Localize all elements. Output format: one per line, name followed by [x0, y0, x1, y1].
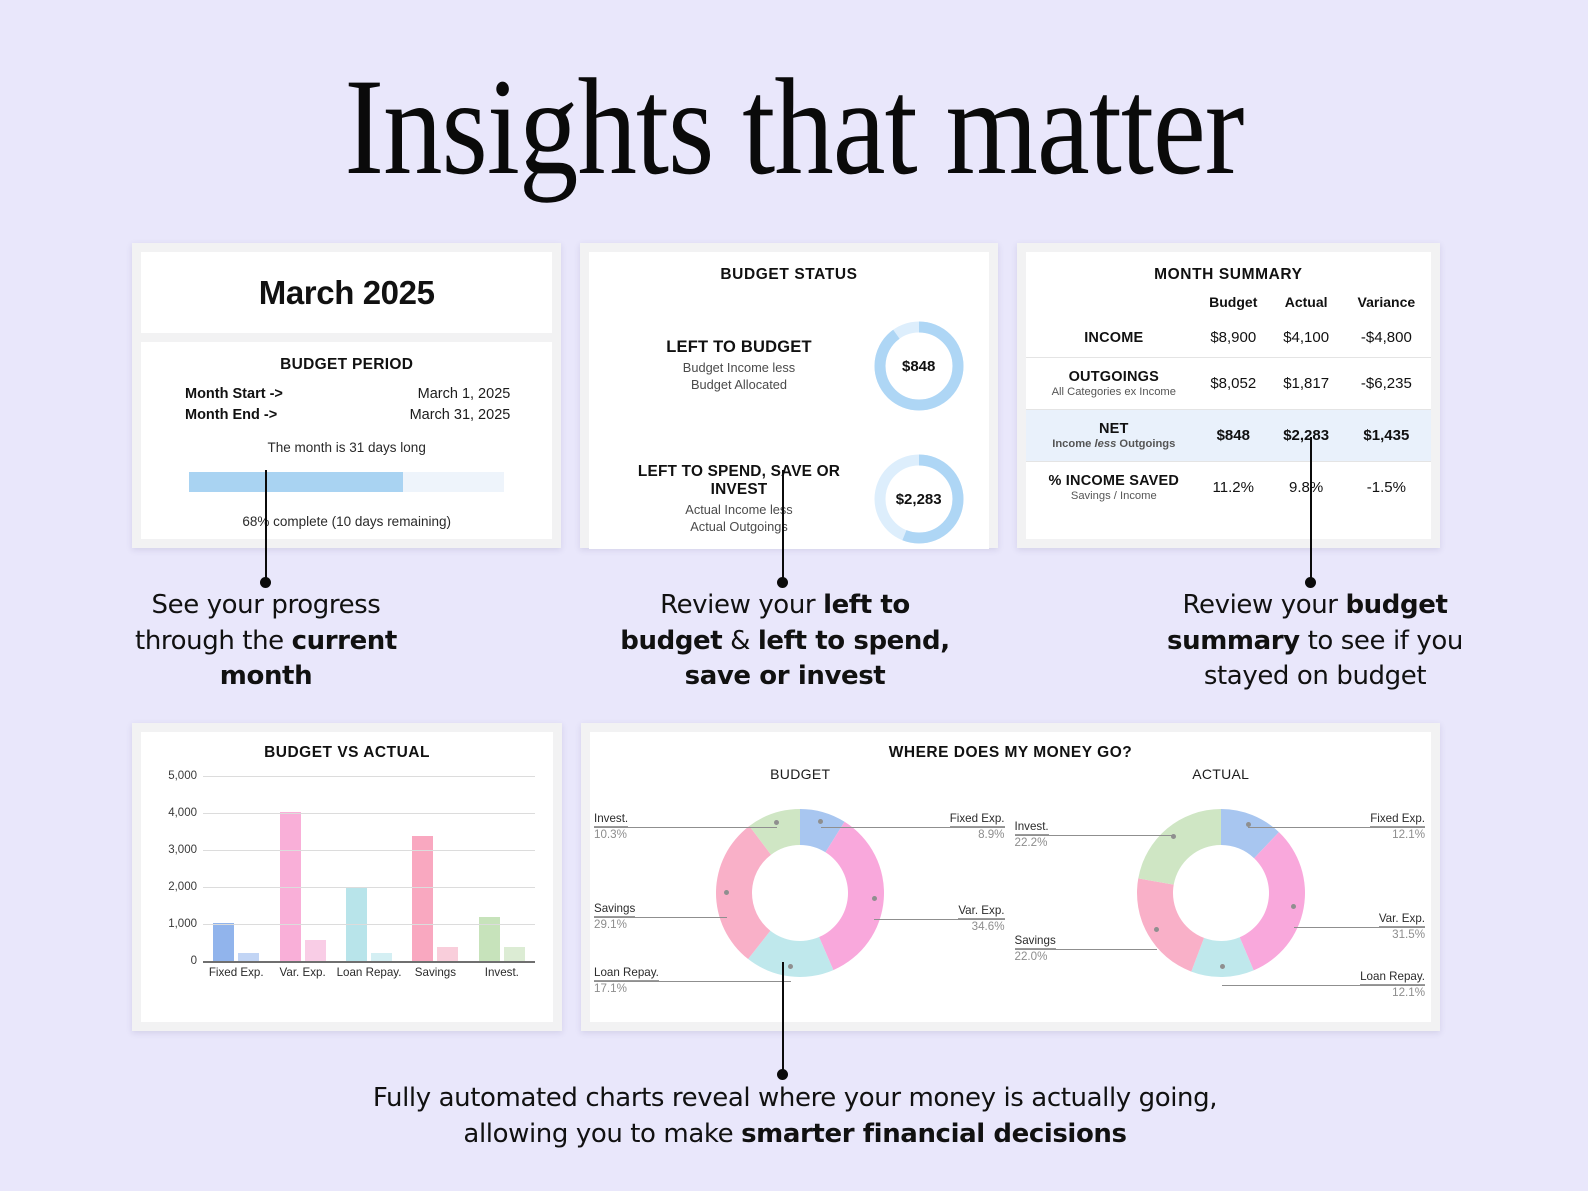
- actual-donut-subtitle: ACTUAL: [1011, 766, 1432, 782]
- month-summary-card: MONTH SUMMARY Budget Actual Variance INC…: [1017, 243, 1440, 548]
- budget-vs-actual-panel: BUDGET VS ACTUAL 01,0002,0003,0004,0005,…: [141, 732, 553, 1022]
- leader-line: [874, 919, 1005, 920]
- col-budget: Budget: [1196, 284, 1271, 318]
- slice-label-name: Var. Exp.: [958, 904, 1004, 919]
- col-actual: Actual: [1271, 284, 1342, 318]
- leader-line: [1294, 927, 1426, 928]
- callout1-line3-bold: month: [220, 661, 312, 691]
- donut-slice: [1137, 878, 1204, 971]
- month-end-row: Month End -> March 31, 2025: [185, 407, 510, 423]
- slice-label-name: Invest.: [1015, 820, 1049, 835]
- slice-label-value: 29.1%: [594, 917, 635, 931]
- row-name: % INCOME SAVED: [1032, 473, 1196, 489]
- leader-dot: [872, 896, 877, 901]
- callout-month-summary: Review your budget summary to see if you…: [1128, 588, 1502, 695]
- donut-charts: BUDGET Fixed Exp.8.9%Var. Exp.34.6%Loan …: [590, 766, 1431, 1014]
- slice-label-value: 17.1%: [594, 981, 659, 995]
- bar-actual: [437, 947, 458, 961]
- row-budget: $8,900: [1196, 318, 1271, 358]
- bar-chart: 01,0002,0003,0004,0005,000 Fixed Exp.Var…: [155, 776, 543, 994]
- budget-donut-subtitle: BUDGET: [590, 766, 1011, 782]
- left-to-budget-value: $848: [869, 316, 969, 416]
- callout-charts: Fully automated charts reveal where your…: [280, 1081, 1310, 1152]
- callout3-line3: stayed on budget: [1204, 661, 1426, 691]
- table-row: INCOME$8,900$4,100-$4,800: [1026, 318, 1431, 358]
- slice-label-name: Loan Repay.: [1360, 970, 1425, 985]
- lts-sub-line2: Actual Outgoings: [690, 519, 787, 534]
- callout1-line1: See your progress: [152, 590, 381, 620]
- row-desc: Income less Outgoings: [1032, 438, 1196, 450]
- y-axis-tick: 4,000: [168, 807, 197, 819]
- month-progress-caption: 68% complete (10 days remaining): [167, 514, 526, 529]
- slice-label-name: Loan Repay.: [594, 966, 659, 981]
- connector-dot-2: [777, 577, 788, 588]
- callout-progress: See your progress through the current mo…: [96, 588, 436, 695]
- page-title: Insights that matter: [111, 0, 1477, 196]
- callout3-line1-bold: budget: [1345, 590, 1447, 620]
- row-label-cell: INCOME: [1026, 318, 1196, 358]
- callout4-line1: Fully automated charts reveal where your…: [373, 1083, 1217, 1113]
- bar-chart-bars: [203, 776, 535, 961]
- grid-line: [203, 813, 535, 814]
- donut-chart-title: WHERE DOES MY MONEY GO?: [590, 744, 1431, 762]
- left-to-spend-sub: Actual Income less Actual Outgoings: [609, 502, 868, 536]
- row-name: OUTGOINGS: [1032, 369, 1196, 385]
- leader-dot: [724, 890, 729, 895]
- table-row: OUTGOINGSAll Categories ex Income$8,052$…: [1026, 358, 1431, 410]
- budget-period-panel: BUDGET PERIOD Month Start -> March 1, 20…: [141, 342, 552, 539]
- actual-donut: Fixed Exp.12.1%Var. Exp.31.5%Loan Repay.…: [1011, 784, 1432, 1002]
- slice-label-value: 22.2%: [1015, 835, 1049, 849]
- leader-line: [1015, 835, 1174, 836]
- y-axis-tick: 0: [191, 955, 197, 967]
- x-axis-label: Savings: [402, 966, 468, 979]
- connector-line-1: [265, 470, 267, 582]
- slice-label-name: Fixed Exp.: [1370, 812, 1425, 827]
- left-to-budget-sub: Budget Income less Budget Allocated: [609, 360, 868, 394]
- bar-budget: [412, 836, 433, 961]
- actual-donut-col: ACTUAL Fixed Exp.12.1%Var. Exp.31.5%Loan…: [1011, 766, 1432, 1014]
- month-summary-heading: MONTH SUMMARY: [1026, 266, 1431, 284]
- bar-actual: [504, 947, 525, 961]
- callout4-line2-pre: allowing you to make: [463, 1119, 741, 1149]
- row-desc: All Categories ex Income: [1032, 386, 1196, 398]
- callout3-line1-pre: Review your: [1183, 590, 1346, 620]
- row-label-cell: % INCOME SAVEDSavings / Income: [1026, 462, 1196, 513]
- leader-line: [821, 827, 1005, 828]
- callout2-line2-mid: &: [722, 626, 758, 656]
- left-to-budget-block: LEFT TO BUDGET Budget Income less Budget…: [589, 316, 988, 416]
- connector-dot-3: [1305, 577, 1316, 588]
- bar-actual: [238, 953, 259, 961]
- slice-label-name: Var. Exp.: [1379, 912, 1425, 927]
- month-start-label: Month Start ->: [185, 386, 283, 402]
- where-money-goes-panel: WHERE DOES MY MONEY GO? BUDGET Fixed Exp…: [590, 732, 1431, 1022]
- row-variance: -$4,800: [1342, 318, 1431, 358]
- callout2-line1-pre: Review your: [660, 590, 823, 620]
- row-label-cell: NETIncome less Outgoings: [1026, 410, 1196, 462]
- budget-status-card: BUDGET STATUS LEFT TO BUDGET Budget Inco…: [580, 243, 997, 548]
- leader-line: [594, 827, 777, 828]
- row-name: INCOME: [1032, 330, 1196, 346]
- leader-line: [1222, 985, 1425, 986]
- leader-line: [1015, 949, 1157, 950]
- slice-label-name: Savings: [1015, 934, 1056, 949]
- budget-vs-actual-card: BUDGET VS ACTUAL 01,0002,0003,0004,0005,…: [132, 723, 562, 1031]
- month-end-value: March 31, 2025: [410, 407, 511, 423]
- slice-label-name: Fixed Exp.: [950, 812, 1005, 827]
- budget-status-heading: BUDGET STATUS: [589, 266, 988, 284]
- grid-line: [203, 776, 535, 777]
- row-variance: -$6,235: [1342, 358, 1431, 410]
- slice-label-name: Savings: [594, 902, 635, 917]
- donut-ring: [1116, 790, 1326, 990]
- x-axis-label: Loan Repay.: [336, 966, 402, 979]
- grid-line: [203, 850, 535, 851]
- row-desc: Savings / Income: [1032, 490, 1196, 502]
- left-to-budget-gauge: $848: [869, 316, 969, 416]
- x-axis-label: Invest.: [469, 966, 535, 979]
- bar-group: [203, 923, 269, 961]
- row-budget: 11.2%: [1196, 462, 1271, 513]
- y-axis-tick: 2,000: [168, 881, 197, 893]
- x-axis-line: [203, 961, 535, 963]
- left-to-spend-title: LEFT TO SPEND, SAVE OR INVEST: [609, 463, 868, 499]
- row-budget: $848: [1196, 410, 1271, 462]
- callout2-line3-bold: save or invest: [685, 661, 886, 691]
- left-to-spend-block: LEFT TO SPEND, SAVE OR INVEST Actual Inc…: [589, 449, 988, 549]
- month-progress-fill: [189, 472, 403, 492]
- month-start-row: Month Start -> March 1, 2025: [185, 386, 510, 402]
- slice-label-value: 8.9%: [950, 827, 1005, 841]
- y-axis-tick: 3,000: [168, 844, 197, 856]
- connector-line-3: [1310, 437, 1312, 582]
- left-to-budget-title: LEFT TO BUDGET: [609, 338, 868, 357]
- row-budget: $8,052: [1196, 358, 1271, 410]
- callout1-line2-pre: through the: [135, 626, 292, 656]
- month-title: March 2025: [141, 252, 552, 333]
- budget-status-panel: BUDGET STATUS LEFT TO BUDGET Budget Inco…: [589, 252, 988, 549]
- leader-line: [594, 981, 791, 982]
- slice-label-name: Invest.: [594, 812, 628, 827]
- row-variance: -1.5%: [1342, 462, 1431, 513]
- row-name: NET: [1032, 421, 1196, 437]
- month-length-text: The month is 31 days long: [167, 440, 526, 455]
- budget-period-heading: BUDGET PERIOD: [167, 356, 526, 374]
- leader-line: [1248, 827, 1425, 828]
- row-variance: $1,435: [1342, 410, 1431, 462]
- callout2-line2-bold-b: left to spend,: [758, 626, 950, 656]
- month-end-label: Month End ->: [185, 407, 277, 423]
- connector-line-2: [782, 470, 784, 582]
- callout1-line2-bold: current: [292, 626, 397, 656]
- table-header-row: Budget Actual Variance: [1026, 284, 1431, 318]
- slice-label-value: 12.1%: [1360, 985, 1425, 999]
- callout2-line2-bold-a: budget: [620, 626, 722, 656]
- row-actual: 9.8%: [1271, 462, 1342, 513]
- grid-line: [203, 924, 535, 925]
- top-card-row: March 2025 BUDGET PERIOD Month Start -> …: [132, 243, 1440, 548]
- y-axis-tick: 1,000: [168, 918, 197, 930]
- left-to-spend-value: $2,283: [869, 449, 969, 549]
- bar-chart-plot: 01,0002,0003,0004,0005,000: [203, 776, 535, 961]
- callout3-line2-post: to see if you: [1300, 626, 1463, 656]
- bottom-card-row: BUDGET VS ACTUAL 01,0002,0003,0004,0005,…: [132, 723, 1440, 1031]
- ltb-sub-line2: Budget Allocated: [691, 377, 787, 392]
- y-axis-tick: 5,000: [168, 770, 197, 782]
- row-actual: $4,100: [1271, 318, 1342, 358]
- connector-dot-1: [260, 577, 271, 588]
- callout-budget-status: Review your left to budget & left to spe…: [600, 588, 970, 695]
- bar-chart-title: BUDGET VS ACTUAL: [141, 744, 553, 762]
- connector-line-4: [782, 962, 784, 1074]
- bar-chart-x-labels: Fixed Exp.Var. Exp.Loan Repay.SavingsInv…: [203, 966, 535, 979]
- budget-donut-col: BUDGET Fixed Exp.8.9%Var. Exp.34.6%Loan …: [590, 766, 1011, 1014]
- slice-label-value: 22.0%: [1015, 949, 1056, 963]
- col-variance: Variance: [1342, 284, 1431, 318]
- left-to-spend-gauge: $2,283: [869, 449, 969, 549]
- where-money-goes-card: WHERE DOES MY MONEY GO? BUDGET Fixed Exp…: [581, 723, 1440, 1031]
- grid-line: [203, 887, 535, 888]
- slice-label-value: 12.1%: [1370, 827, 1425, 841]
- donut-slice: [1138, 809, 1221, 885]
- callout3-line2-bold: summary: [1167, 626, 1300, 656]
- x-axis-label: Fixed Exp.: [203, 966, 269, 979]
- slice-label-value: 10.3%: [594, 827, 628, 841]
- connector-dot-4: [777, 1069, 788, 1080]
- leader-line: [594, 917, 727, 918]
- x-axis-label: Var. Exp.: [269, 966, 335, 979]
- table-row: % INCOME SAVEDSavings / Income11.2%9.8%-…: [1026, 462, 1431, 513]
- month-progress-bar: [189, 472, 504, 492]
- row-actual: $1,817: [1271, 358, 1342, 410]
- table-row: NETIncome less Outgoings$848$2,283$1,435: [1026, 410, 1431, 462]
- lts-sub-line1: Actual Income less: [685, 502, 792, 517]
- bar-actual: [371, 953, 392, 961]
- ltb-sub-line1: Budget Income less: [683, 360, 795, 375]
- callout2-line1-bold: left to: [823, 590, 910, 620]
- bar-actual: [305, 940, 326, 961]
- slice-label-value: 31.5%: [1379, 927, 1425, 941]
- month-summary-table: Budget Actual Variance INCOME$8,900$4,10…: [1026, 284, 1431, 513]
- month-summary-panel: MONTH SUMMARY Budget Actual Variance INC…: [1026, 252, 1431, 539]
- budget-donut: Fixed Exp.8.9%Var. Exp.34.6%Loan Repay.1…: [590, 784, 1011, 1002]
- slice-label-value: 34.6%: [958, 919, 1004, 933]
- bar-group: [402, 836, 468, 961]
- row-actual: $2,283: [1271, 410, 1342, 462]
- row-label-cell: OUTGOINGSAll Categories ex Income: [1026, 358, 1196, 410]
- callout4-line2-bold: smarter financial decisions: [741, 1119, 1127, 1149]
- month-period-card: March 2025 BUDGET PERIOD Month Start -> …: [132, 243, 561, 548]
- bar-budget: [213, 923, 234, 961]
- month-start-value: March 1, 2025: [418, 386, 511, 402]
